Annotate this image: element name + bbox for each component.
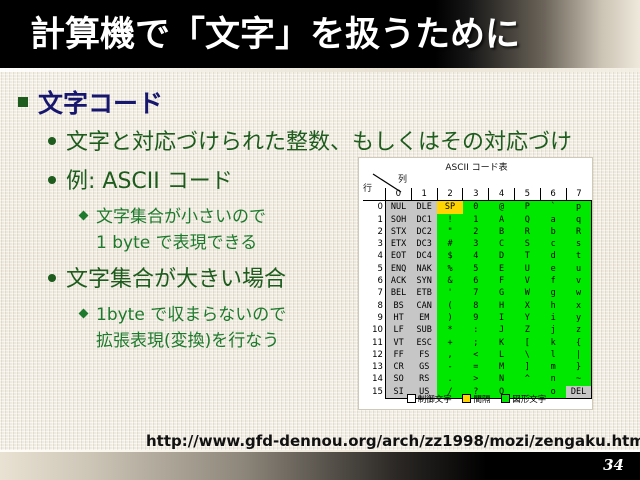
ascii-cell-14-7: ~	[566, 373, 591, 385]
bullet-text: 文字と対応づけられた整数、もしくはその対応づけ	[66, 130, 572, 155]
ascii-cell-3-4: C	[489, 238, 515, 250]
ascii-cell-3-2: #	[437, 238, 463, 250]
ascii-cell-10-4: J	[489, 324, 515, 336]
row-header-2: 2	[363, 226, 385, 238]
ascii-cell-12-4: L	[489, 349, 515, 361]
legend-item-graphic: 図形文字	[501, 395, 546, 405]
ascii-cell-3-3: 3	[463, 238, 489, 250]
ascii-cell-13-2: -	[437, 361, 463, 373]
ascii-cell-13-3: =	[463, 361, 489, 373]
ascii-cell-2-6: b	[540, 226, 566, 238]
ascii-cell-7-2: '	[437, 287, 463, 299]
ascii-cell-8-4: H	[489, 300, 515, 312]
ascii-cell-1-6: a	[540, 214, 566, 226]
ascii-cell-10-3: :	[463, 324, 489, 336]
legend-item-control: 制御文字	[407, 395, 452, 405]
legend-label: 図形文字	[512, 395, 546, 405]
page-number: 34	[603, 456, 624, 474]
ascii-cell-13-1: GS	[411, 361, 437, 373]
table-row: 9HTEM)9IYiy	[363, 312, 592, 324]
bullet-text: 例: ASCII コード	[66, 169, 233, 194]
ascii-cell-0-1: DLE	[411, 201, 437, 214]
ascii-cell-2-3: 2	[463, 226, 489, 238]
bullet-level3-4: 拡張表現(変換)を行なう	[80, 326, 279, 351]
ascii-cell-3-7: s	[566, 238, 591, 250]
bullet-level1-1: 文字コード	[18, 84, 163, 120]
ascii-cell-11-5: [	[514, 337, 540, 349]
ascii-cell-6-2: &	[437, 275, 463, 287]
table-corner-cell	[363, 188, 385, 201]
row-header-6: 6	[363, 275, 385, 287]
ascii-cell-9-1: EM	[411, 312, 437, 324]
table-row: 8BSCAN(8HXhx	[363, 300, 592, 312]
col-header-3: 3	[463, 188, 489, 201]
row-header-5: 5	[363, 263, 385, 275]
bullet-level2-1: 文字と対応づけられた整数、もしくはその対応づけ	[48, 124, 572, 156]
ascii-cell-10-7: z	[566, 324, 591, 336]
ascii-cell-1-4: A	[489, 214, 515, 226]
ascii-cell-14-3: >	[463, 373, 489, 385]
table-row: 14SORS.>N^n~	[363, 373, 592, 385]
legend-label: 間隔	[473, 395, 490, 405]
ascii-cell-14-5: ^	[514, 373, 540, 385]
bullet-text: 1 byte で表現できる	[96, 233, 257, 253]
row-header-13: 13	[363, 361, 385, 373]
ascii-cell-11-1: ESC	[411, 337, 437, 349]
table-row: 1SOHDC1!1AQaq	[363, 214, 592, 226]
ascii-cell-11-6: k	[540, 337, 566, 349]
ascii-cell-8-1: CAN	[411, 300, 437, 312]
table-row: 7BELETB'7GWgw	[363, 287, 592, 299]
row-header-12: 12	[363, 349, 385, 361]
ascii-cell-13-7: }	[566, 361, 591, 373]
ascii-cell-12-2: ,	[437, 349, 463, 361]
row-header-10: 10	[363, 324, 385, 336]
ascii-cell-6-3: 6	[463, 275, 489, 287]
row-header-11: 11	[363, 337, 385, 349]
col-header-1: 1	[411, 188, 437, 201]
col-header-6: 6	[540, 188, 566, 201]
ascii-table-body: 0NULDLESP0@P`p1SOHDC1!1AQaq2STXDC2"2BRbR…	[363, 201, 592, 399]
ascii-cell-5-3: 5	[463, 263, 489, 275]
ascii-cell-1-0: SOH	[385, 214, 411, 226]
ascii-cell-2-4: B	[489, 226, 515, 238]
legend-label: 制御文字	[418, 395, 452, 405]
slide-canvas: 計算機で「文字」を扱うために 文字コード 文字と対応づけられた整数、もしくはその…	[0, 0, 640, 480]
row-header-9: 9	[363, 312, 385, 324]
bullet-text: 文字コード	[38, 89, 163, 118]
ascii-cell-11-0: VT	[385, 337, 411, 349]
ascii-table-legend: 制御文字 間隔 図形文字	[359, 393, 594, 405]
ascii-cell-0-3: 0	[463, 201, 489, 214]
bullet-level3-2: 1 byte で表現できる	[80, 228, 257, 253]
ascii-cell-8-7: x	[566, 300, 591, 312]
ascii-cell-0-6: `	[540, 201, 566, 214]
ascii-cell-7-6: g	[540, 287, 566, 299]
ascii-cell-5-4: E	[489, 263, 515, 275]
row-header-14: 14	[363, 373, 385, 385]
ascii-cell-9-5: Y	[514, 312, 540, 324]
round-bullet-icon	[48, 176, 56, 184]
ascii-cell-3-0: ETX	[385, 238, 411, 250]
ascii-cell-12-6: l	[540, 349, 566, 361]
ascii-cell-2-5: R	[514, 226, 540, 238]
table-row: 6ACKSYN&6FVfv	[363, 275, 592, 287]
ascii-cell-0-5: P	[514, 201, 540, 214]
ascii-cell-8-0: BS	[385, 300, 411, 312]
ascii-cell-3-1: DC3	[411, 238, 437, 250]
table-header-row: 0 1 2 3 4 5 6 7	[363, 188, 592, 201]
ascii-cell-14-2: .	[437, 373, 463, 385]
ascii-cell-9-3: 9	[463, 312, 489, 324]
ascii-cell-12-5: \	[514, 349, 540, 361]
ascii-cell-4-3: 4	[463, 250, 489, 262]
ascii-cell-10-1: SUB	[411, 324, 437, 336]
ascii-cell-2-2: "	[437, 226, 463, 238]
table-row: 2STXDC2"2BRbR	[363, 226, 592, 238]
ascii-cell-10-0: LF	[385, 324, 411, 336]
ascii-cell-8-5: X	[514, 300, 540, 312]
table-row: 13CRGS-=M]m}	[363, 361, 592, 373]
title-banner: 計算機で「文字」を扱うために	[0, 0, 640, 68]
bullet-text: 1byte で収まらないので	[96, 305, 286, 325]
col-header-0: 0	[385, 188, 411, 201]
row-header-1: 1	[363, 214, 385, 226]
bullet-level2-3: 文字集合が大きい場合	[48, 261, 286, 293]
ascii-cell-5-1: NAK	[411, 263, 437, 275]
ascii-cell-13-0: CR	[385, 361, 411, 373]
table-row: 10LFSUB*:JZjz	[363, 324, 592, 336]
bullet-text: 拡張表現(変換)を行なう	[96, 331, 279, 351]
legend-swatch-graphic-icon	[501, 394, 510, 403]
ascii-cell-12-3: <	[463, 349, 489, 361]
ascii-cell-10-6: j	[540, 324, 566, 336]
ascii-cell-9-0: HT	[385, 312, 411, 324]
citation-url: http://www.gfd-dennou.org/arch/zz1998/mo…	[146, 430, 640, 451]
ascii-cell-0-2: SP	[437, 201, 463, 214]
col-header-5: 5	[514, 188, 540, 201]
ascii-cell-5-0: ENQ	[385, 263, 411, 275]
legend-swatch-space-icon	[462, 394, 471, 403]
ascii-cell-7-1: ETB	[411, 287, 437, 299]
ascii-cell-8-3: 8	[463, 300, 489, 312]
ascii-cell-4-5: T	[514, 250, 540, 262]
ascii-cell-6-1: SYN	[411, 275, 437, 287]
table-row: 0NULDLESP0@P`p	[363, 201, 592, 214]
ascii-cell-7-7: w	[566, 287, 591, 299]
ascii-cell-0-7: p	[566, 201, 591, 214]
ascii-cell-5-5: U	[514, 263, 540, 275]
ascii-cell-7-5: W	[514, 287, 540, 299]
title-underline	[0, 68, 640, 72]
round-bullet-icon	[48, 137, 56, 145]
ascii-cell-11-7: {	[566, 337, 591, 349]
ascii-cell-6-4: F	[489, 275, 515, 287]
ascii-cell-0-0: NUL	[385, 201, 411, 214]
row-header-7: 7	[363, 287, 385, 299]
diamond-bullet-icon	[79, 308, 89, 318]
ascii-cell-2-7: R	[566, 226, 591, 238]
round-bullet-icon	[48, 274, 56, 282]
col-header-4: 4	[489, 188, 515, 201]
legend-item-space: 間隔	[462, 395, 490, 405]
ascii-code-table-image: ASCII コード表 行 列 0 1 2 3 4 5 6 7	[358, 157, 593, 410]
page-title: 計算機で「文字」を扱うために	[30, 6, 520, 57]
ascii-cell-9-4: I	[489, 312, 515, 324]
ascii-cell-7-4: G	[489, 287, 515, 299]
ascii-cell-1-5: Q	[514, 214, 540, 226]
col-header-2: 2	[437, 188, 463, 201]
ascii-cell-14-1: RS	[411, 373, 437, 385]
square-bullet-icon	[18, 97, 28, 107]
ascii-cell-1-3: 1	[463, 214, 489, 226]
ascii-cell-5-2: %	[437, 263, 463, 275]
ascii-cell-14-6: n	[540, 373, 566, 385]
ascii-cell-12-7: |	[566, 349, 591, 361]
bullet-level3-3: 1byte で収まらないので	[80, 300, 286, 325]
ascii-cell-4-0: EOT	[385, 250, 411, 262]
ascii-cell-3-5: S	[514, 238, 540, 250]
ascii-cell-4-1: DC4	[411, 250, 437, 262]
ascii-cell-4-2: $	[437, 250, 463, 262]
ascii-cell-2-1: DC2	[411, 226, 437, 238]
table-row: 11VTESC+;K[k{	[363, 337, 592, 349]
row-header-8: 8	[363, 300, 385, 312]
ascii-cell-2-0: STX	[385, 226, 411, 238]
ascii-cell-11-3: ;	[463, 337, 489, 349]
ascii-cell-6-0: ACK	[385, 275, 411, 287]
ascii-cell-0-4: @	[489, 201, 515, 214]
ascii-cell-4-7: t	[566, 250, 591, 262]
table-row: 3ETXDC3#3CScs	[363, 238, 592, 250]
bullet-level3-1: 文字集合が小さいので	[80, 202, 266, 227]
ascii-cell-1-2: !	[437, 214, 463, 226]
ascii-cell-4-6: d	[540, 250, 566, 262]
ascii-cell-14-4: N	[489, 373, 515, 385]
ascii-table: 0 1 2 3 4 5 6 7 0NULDLESP0@P`p1SOHDC1!1A…	[363, 188, 592, 399]
row-header-3: 3	[363, 238, 385, 250]
ascii-cell-1-7: q	[566, 214, 591, 226]
ascii-cell-7-0: BEL	[385, 287, 411, 299]
ascii-cell-9-2: )	[437, 312, 463, 324]
ascii-cell-12-1: FS	[411, 349, 437, 361]
ascii-cell-10-5: Z	[514, 324, 540, 336]
row-header-0: 0	[363, 201, 385, 214]
table-row: 4EOTDC4$4DTdt	[363, 250, 592, 262]
ascii-cell-13-4: M	[489, 361, 515, 373]
bullet-text: 文字集合が大きい場合	[66, 267, 286, 292]
ascii-cell-11-2: +	[437, 337, 463, 349]
ascii-cell-4-4: D	[489, 250, 515, 262]
ascii-cell-6-7: v	[566, 275, 591, 287]
ascii-cell-5-7: u	[566, 263, 591, 275]
ascii-cell-9-6: i	[540, 312, 566, 324]
bullet-text: 文字集合が小さいので	[96, 207, 266, 227]
legend-swatch-control-icon	[407, 394, 416, 403]
ascii-cell-1-1: DC1	[411, 214, 437, 226]
ascii-cell-6-6: f	[540, 275, 566, 287]
ascii-cell-8-6: h	[540, 300, 566, 312]
ascii-cell-10-2: *	[437, 324, 463, 336]
ascii-cell-13-6: m	[540, 361, 566, 373]
ascii-cell-3-6: c	[540, 238, 566, 250]
ascii-cell-12-0: FF	[385, 349, 411, 361]
row-header-4: 4	[363, 250, 385, 262]
ascii-cell-5-6: e	[540, 263, 566, 275]
ascii-cell-7-3: 7	[463, 287, 489, 299]
ascii-cell-13-5: ]	[514, 361, 540, 373]
bullet-level2-2: 例: ASCII コード	[48, 163, 233, 195]
ascii-cell-14-0: SO	[385, 373, 411, 385]
diamond-bullet-icon	[79, 210, 89, 220]
ascii-cell-8-2: (	[437, 300, 463, 312]
ascii-cell-11-4: K	[489, 337, 515, 349]
bottom-banner	[0, 452, 640, 480]
table-row: 5ENQNAK%5EUeu	[363, 263, 592, 275]
ascii-cell-9-7: y	[566, 312, 591, 324]
col-header-7: 7	[566, 188, 591, 201]
table-row: 12FFFS,<L\l|	[363, 349, 592, 361]
ascii-cell-6-5: V	[514, 275, 540, 287]
